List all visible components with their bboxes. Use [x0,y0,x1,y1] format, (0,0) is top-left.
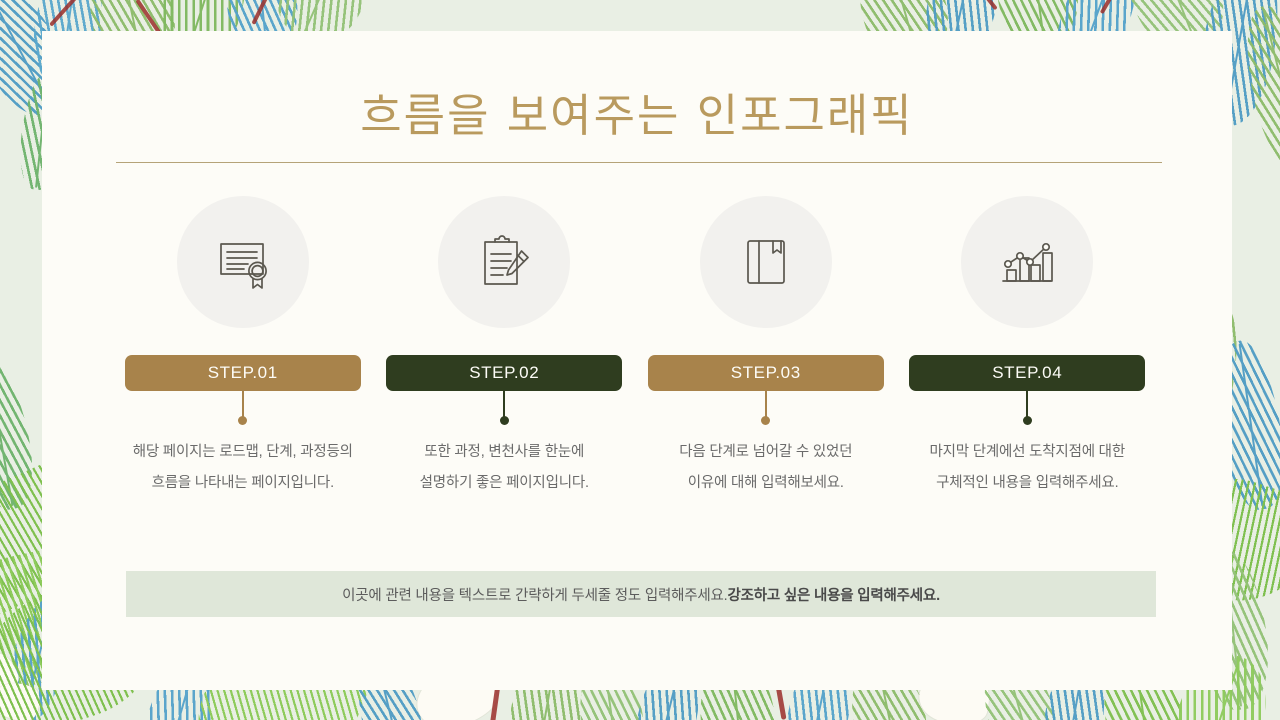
step-badge-4[interactable]: STEP.04 [909,355,1145,391]
clipboard-pencil-icon [473,231,535,293]
step-badge-1[interactable]: STEP.01 [125,355,361,391]
icon-circle-2 [438,196,570,328]
title-divider [116,162,1162,163]
connector-dot-3 [761,416,770,425]
step-connector-1 [242,391,244,421]
open-book-icon [735,231,797,293]
connector-dot-4 [1023,416,1032,425]
step-badge-label-1: STEP.01 [208,363,278,383]
step-description-3: 다음 단계로 넘어갈 수 있었던 이유에 대해 입력해보세요. [641,437,891,499]
step-description-line-1a: 해당 페이지는 로드맵, 단계, 과정등의 [118,437,368,468]
step-column-4: STEP.04 마지막 단계에선 도착지점에 대한 구체적인 내용을 입력해주세… [897,196,1159,499]
step-badge-3[interactable]: STEP.03 [648,355,884,391]
connector-dot-2 [500,416,509,425]
page-title: 흐름을 보여주는 인포그래픽 [42,79,1232,144]
step-description-line-2a: 또한 과정, 변천사를 한눈에 [379,437,629,468]
step-description-line-4a: 마지막 단계에선 도착지점에 대한 [902,437,1152,468]
step-description-2: 또한 과정, 변천사를 한눈에 설명하기 좋은 페이지입니다. [379,437,629,499]
step-description-1: 해당 페이지는 로드맵, 단계, 과정등의 흐름을 나타내는 페이지입니다. [118,437,368,499]
steps-row: STEP.01 해당 페이지는 로드맵, 단계, 과정등의 흐름을 나타내는 페… [112,196,1158,499]
bar-chart-trend-icon [996,231,1058,293]
step-badge-label-2: STEP.02 [469,363,539,383]
step-description-line-1b: 흐름을 나타내는 페이지입니다. [118,468,368,499]
step-description-line-3b: 이유에 대해 입력해보세요. [641,468,891,499]
step-badge-2[interactable]: STEP.02 [386,355,622,391]
step-column-2: STEP.02 또한 과정, 변천사를 한눈에 설명하기 좋은 페이지입니다. [374,196,636,499]
icon-circle-1 [177,196,309,328]
icon-circle-3 [700,196,832,328]
certificate-icon [212,231,274,293]
step-badge-label-3: STEP.03 [731,363,801,383]
step-description-line-4b: 구체적인 내용을 입력해주세요. [902,468,1152,499]
step-badge-label-4: STEP.04 [992,363,1062,383]
step-column-3: STEP.03 다음 단계로 넘어갈 수 있었던 이유에 대해 입력해보세요. [635,196,897,499]
step-column-1: STEP.01 해당 페이지는 로드맵, 단계, 과정등의 흐름을 나타내는 페… [112,196,374,499]
icon-circle-4 [961,196,1093,328]
step-connector-4 [1026,391,1028,421]
step-description-line-2b: 설명하기 좋은 페이지입니다. [379,468,629,499]
footer-banner: 이곳에 관련 내용을 텍스트로 간략하게 두세줄 정도 입력해주세요. 강조하고… [126,571,1156,617]
footer-banner-emphasis: 강조하고 싶은 내용을 입력해주세요. [727,584,939,605]
step-description-line-3a: 다음 단계로 넘어갈 수 있었던 [641,437,891,468]
connector-dot-1 [238,416,247,425]
content-card: 흐름을 보여주는 인포그래픽 [42,31,1232,690]
step-connector-2 [503,391,505,421]
slide-canvas: 흐름을 보여주는 인포그래픽 [0,0,1280,720]
step-connector-3 [765,391,767,421]
footer-banner-text: 이곳에 관련 내용을 텍스트로 간략하게 두세줄 정도 입력해주세요. [342,584,727,605]
step-description-4: 마지막 단계에선 도착지점에 대한 구체적인 내용을 입력해주세요. [902,437,1152,499]
